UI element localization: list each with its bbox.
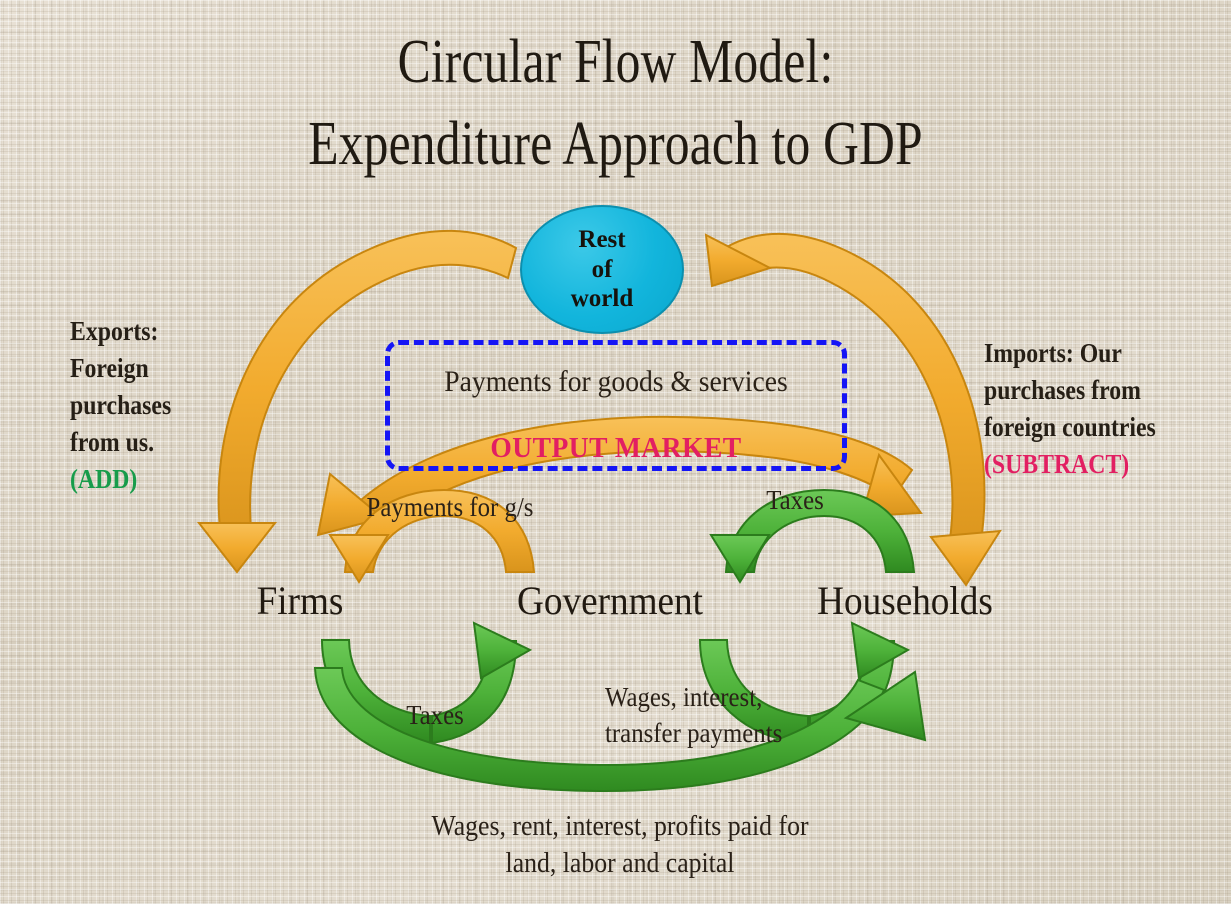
exports-line-4: from us. bbox=[70, 424, 272, 461]
imports-subtract-tag: (SUBTRACT) bbox=[984, 446, 1195, 483]
page-title: Circular Flow Model: Expenditure Approac… bbox=[123, 22, 1108, 186]
imports-line-3: foreign countries bbox=[984, 409, 1195, 446]
taxes-upper-label: Taxes bbox=[708, 485, 883, 516]
imports-line-2: purchases from bbox=[984, 372, 1195, 409]
taxes-lower-label: Taxes bbox=[352, 700, 518, 731]
node-households[interactable]: Households bbox=[789, 577, 1022, 624]
payments-gs-arrowhead bbox=[330, 535, 388, 582]
rest-of-world-line-2: of bbox=[592, 255, 613, 285]
exports-line-3: purchases bbox=[70, 387, 272, 424]
exports-add-tag: (ADD) bbox=[70, 461, 272, 498]
wages-transfers-line-1: Wages, interest, bbox=[605, 680, 881, 716]
title-line-2: Expenditure Approach to GDP bbox=[123, 104, 1108, 186]
bottom-caption-line-1: Wages, rent, interest, profits paid for bbox=[326, 808, 915, 845]
bottom-caption-line-2: land, labor and capital bbox=[326, 845, 915, 882]
wages-transfers-label: Wages, interest, transfer payments bbox=[605, 680, 881, 752]
exports-line-2: Foreign bbox=[70, 350, 272, 387]
factor-payments-caption: Wages, rent, interest, profits paid for … bbox=[326, 808, 915, 882]
exports-note: Exports: Foreign purchases from us. (ADD… bbox=[70, 313, 272, 498]
node-firms[interactable]: Firms bbox=[207, 577, 393, 624]
rest-of-world-line-1: Rest bbox=[578, 225, 625, 255]
wages-transfers-line-2: transfer payments bbox=[605, 716, 881, 752]
exports-arrowhead bbox=[199, 523, 275, 572]
output-market-label: OUTPUT MARKET bbox=[397, 432, 836, 465]
node-rest-of-world[interactable]: Rest of world bbox=[520, 205, 684, 334]
title-line-1: Circular Flow Model: bbox=[123, 22, 1108, 104]
diagram-canvas: Circular Flow Model: Expenditure Approac… bbox=[0, 0, 1231, 904]
payments-gs-label: Payments for g/s bbox=[312, 492, 588, 523]
imports-note: Imports: Our purchases from foreign coun… bbox=[984, 335, 1195, 483]
rest-of-world-line-3: world bbox=[571, 284, 634, 314]
taxes-upper-arrowhead bbox=[711, 535, 769, 582]
imports-line-1: Imports: Our bbox=[984, 335, 1195, 372]
exports-line-1: Exports: bbox=[70, 313, 272, 350]
node-government[interactable]: Government bbox=[480, 577, 740, 624]
payments-for-goods-services-label: Payments for goods & services bbox=[403, 365, 828, 399]
